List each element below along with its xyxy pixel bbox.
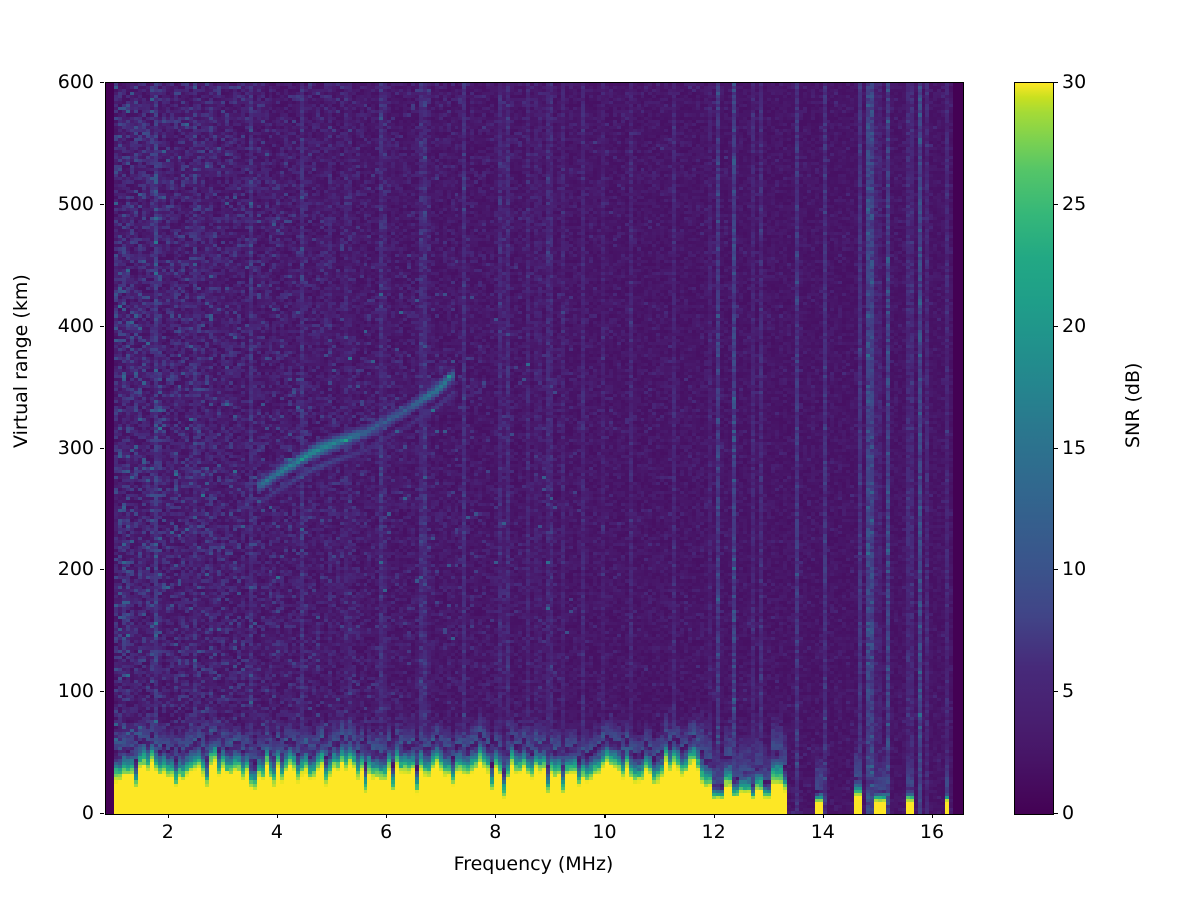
colorbar-tick-mark [1054,82,1058,83]
y-tick-mark [100,82,104,83]
x-tick-mark [168,814,169,818]
y-tick-label: 600 [58,71,94,93]
colorbar-tick-label: 25 [1062,193,1086,215]
colorbar-tick-mark [1054,569,1058,570]
colorbar-tick-mark [1054,326,1058,327]
colorbar-tick-label: 5 [1062,680,1074,702]
colorbar-tick-label: 20 [1062,315,1086,337]
colorbar-tick-label: 30 [1062,71,1086,93]
y-tick-mark [100,204,104,205]
x-tick-mark [386,814,387,818]
x-tick-label: 14 [811,821,835,843]
colorbar-tick-mark [1054,691,1058,692]
x-tick-mark [604,814,605,818]
ionogram-figure: IRF Kiruna Ionosonde KI167 2025-09-25 06… [0,0,1200,900]
x-tick-label: 12 [702,821,726,843]
colorbar-tick-label: 10 [1062,558,1086,580]
y-tick-label: 100 [58,680,94,702]
x-tick-label: 2 [162,821,174,843]
x-tick-label: 16 [920,821,944,843]
y-tick-mark [100,813,104,814]
y-tick-mark [100,448,104,449]
x-tick-mark [932,814,933,818]
y-tick-mark [100,569,104,570]
y-tick-label: 300 [58,437,94,459]
colorbar-label: SNR (dB) [1122,363,1144,448]
x-tick-mark [495,814,496,818]
x-tick-label: 6 [380,821,392,843]
x-tick-mark [714,814,715,818]
x-axis-label: Frequency (MHz) [105,853,962,875]
y-tick-mark [100,691,104,692]
colorbar-tick-mark [1054,448,1058,449]
snr-colorbar [1014,82,1054,815]
y-tick-label: 200 [58,558,94,580]
plot-axes [105,82,964,815]
colorbar-tick-mark [1054,204,1058,205]
colorbar-tick-label: 15 [1062,437,1086,459]
x-tick-label: 4 [271,821,283,843]
ionogram-heatmap [106,83,963,814]
x-tick-label: 8 [489,821,501,843]
y-axis-label: Virtual range (km) [10,274,32,448]
colorbar-tick-mark [1054,813,1058,814]
y-tick-mark [100,326,104,327]
x-tick-label: 10 [592,821,616,843]
y-tick-label: 400 [58,315,94,337]
y-tick-label: 500 [58,193,94,215]
colorbar-tick-label: 0 [1062,802,1074,824]
x-tick-mark [823,814,824,818]
x-tick-mark [277,814,278,818]
y-tick-label: 0 [82,802,94,824]
